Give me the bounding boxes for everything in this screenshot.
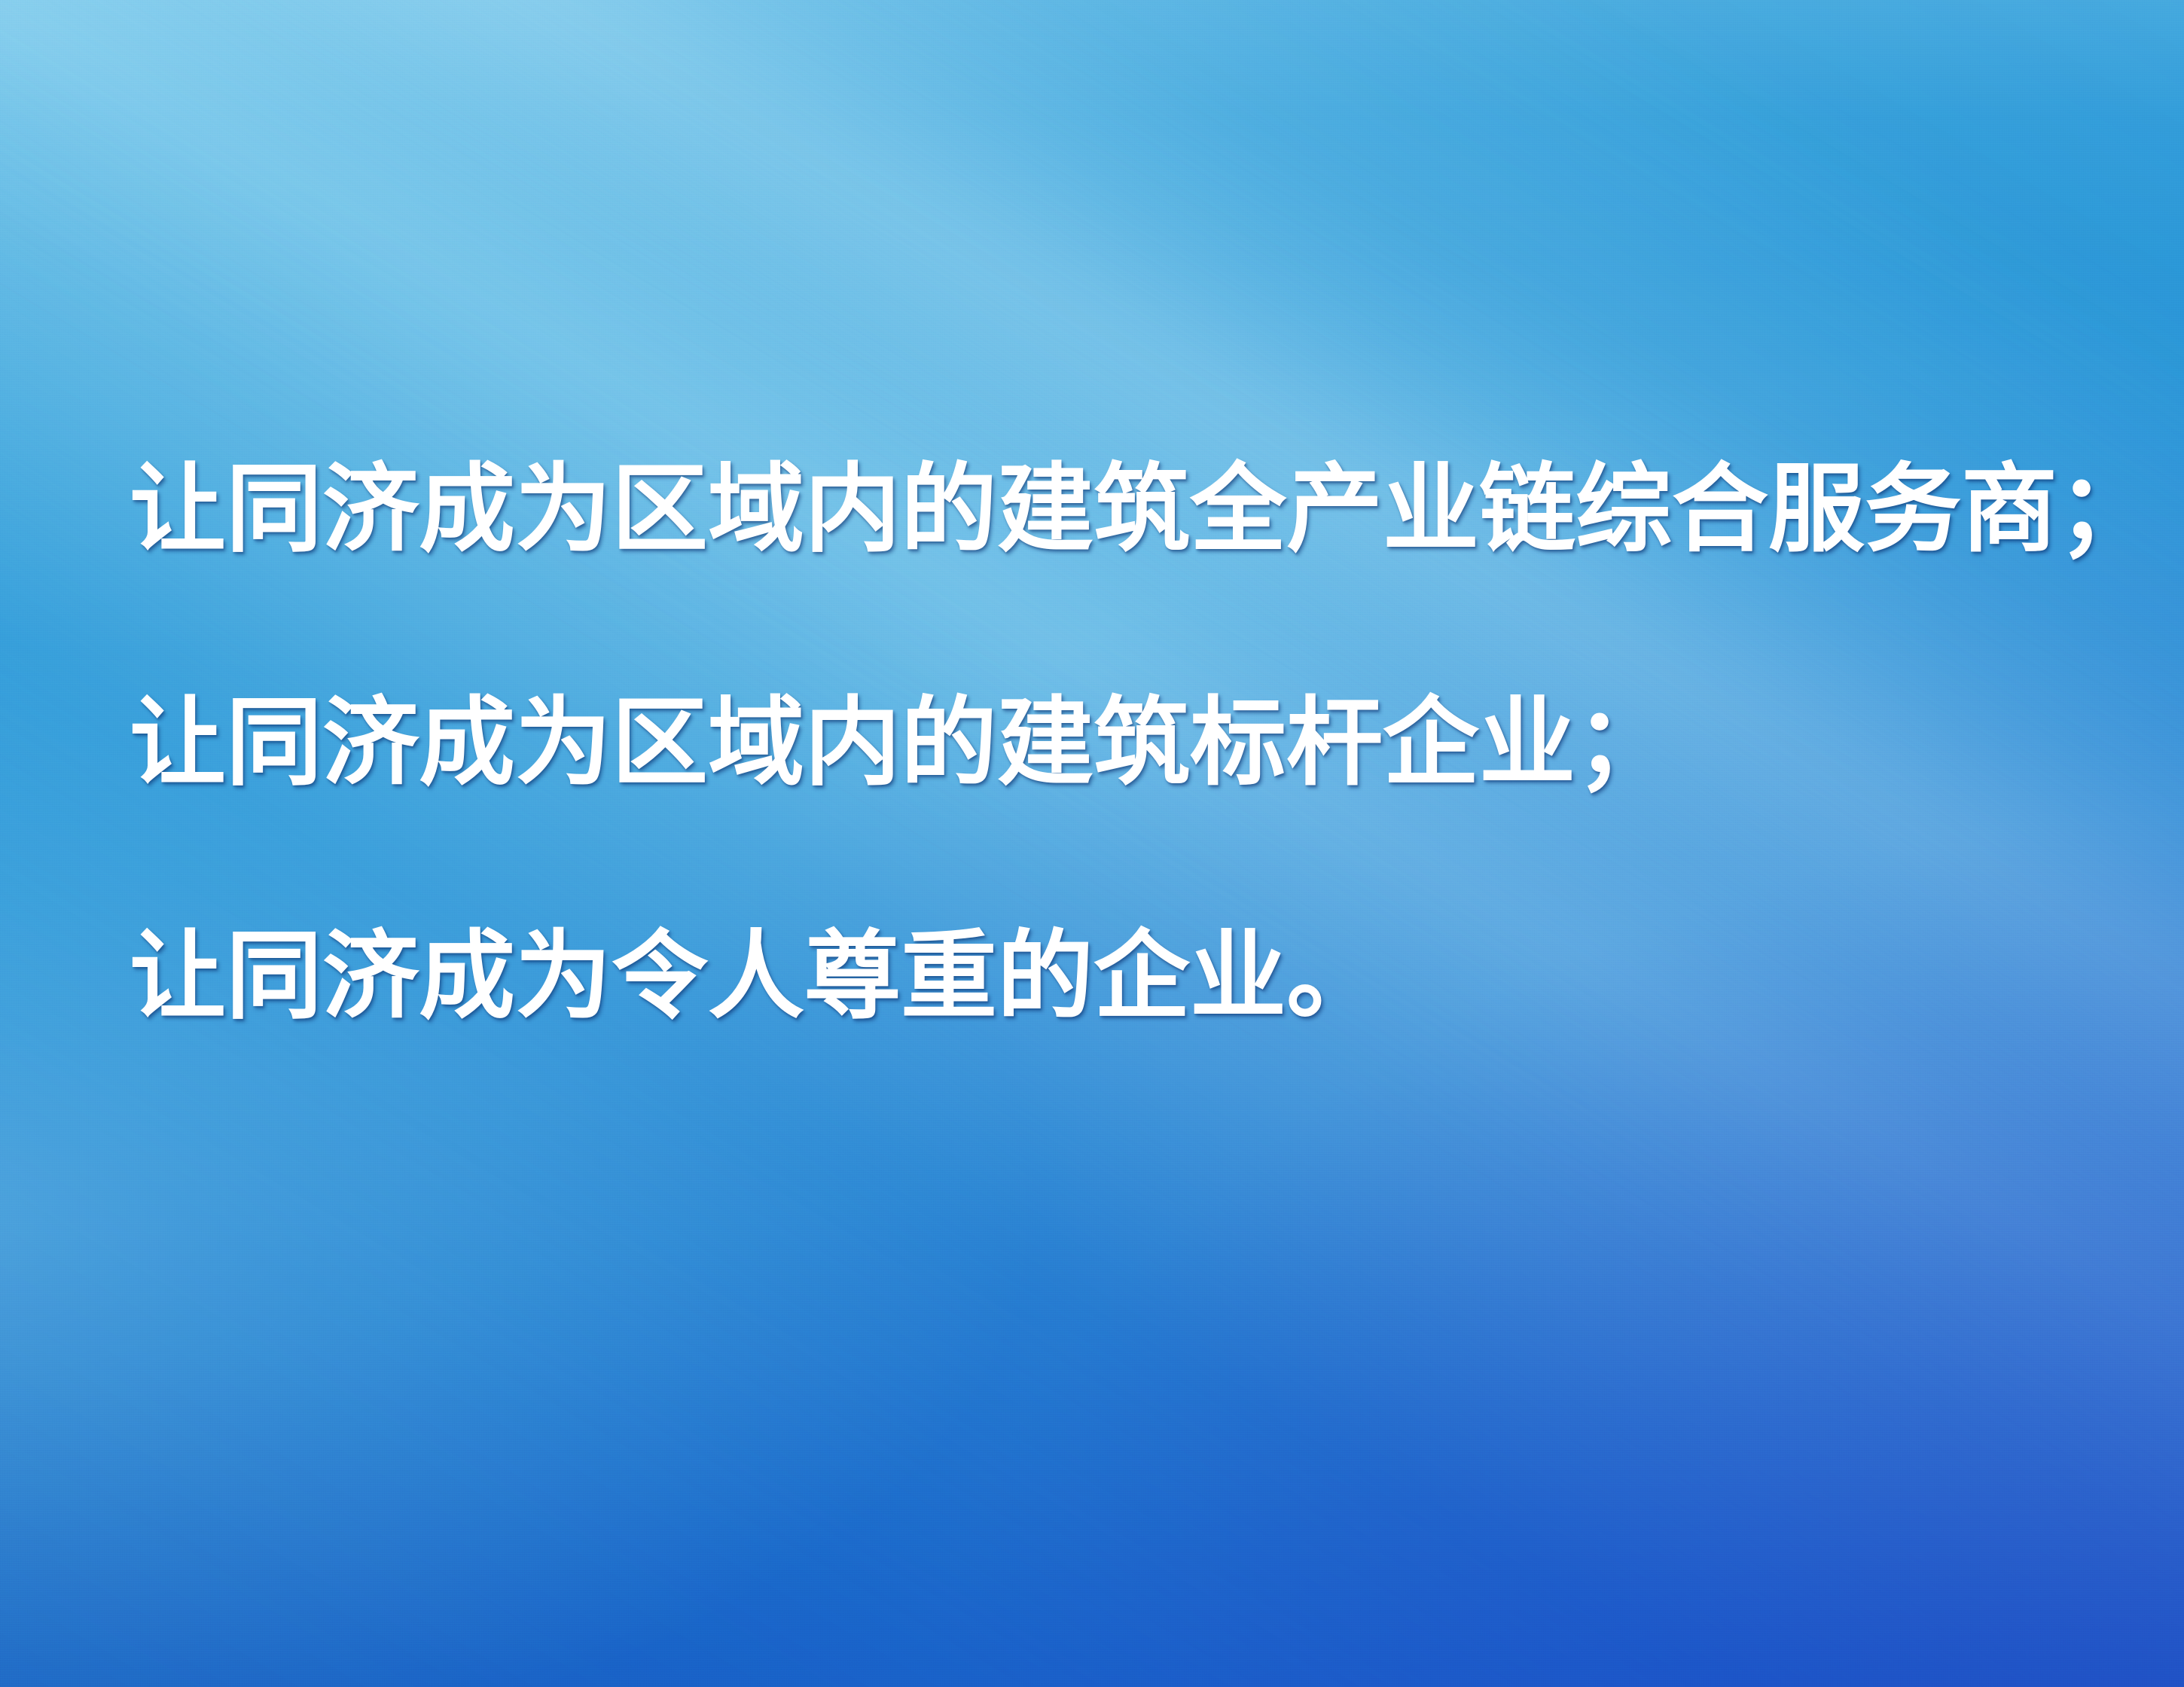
slide-canvas: 让同济成为区域内的建筑全产业链综合服务商； 让同济成为区域内的建筑标杆企业； 让… — [0, 0, 2184, 1687]
slogan-text-block: 让同济成为区域内的建筑全产业链综合服务商； 让同济成为区域内的建筑标杆企业； 让… — [130, 461, 2088, 1024]
slogan-line-3: 让同济成为令人尊重的企业。 — [130, 928, 2088, 1024]
slogan-line-2: 让同济成为区域内的建筑标杆企业； — [130, 694, 2088, 791]
slogan-line-1: 让同济成为区域内的建筑全产业链综合服务商； — [130, 461, 2088, 557]
